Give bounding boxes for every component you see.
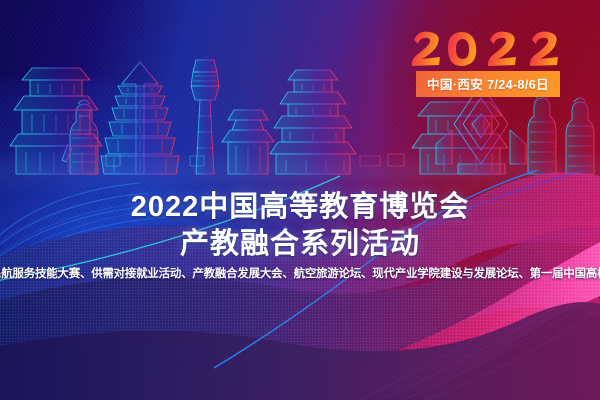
page-title: 2022中国高等教育博览会 bbox=[0, 192, 600, 223]
year-and-date-block: 中国·西安 7/24-8/6日 bbox=[398, 28, 578, 97]
event-banner: 中国·西安 7/24-8/6日 2022中国高等教育博览会 产教融合系列活动 民… bbox=[0, 0, 600, 400]
date-location-badge: 中国·西安 7/24-8/6日 bbox=[416, 71, 560, 97]
banner-titles: 2022中国高等教育博览会 产教融合系列活动 bbox=[0, 192, 600, 261]
event-list-strip: 民航服务技能大赛、供需对接就业活动、产教融合发展大会、航空旅游论坛、现代产业学院… bbox=[0, 264, 600, 284]
event-list-text: 民航服务技能大赛、供需对接就业活动、产教融合发展大会、航空旅游论坛、现代产业学院… bbox=[0, 264, 600, 284]
page-subtitle: 产教融合系列活动 bbox=[0, 229, 600, 260]
year-2022-brush-art bbox=[408, 28, 568, 68]
